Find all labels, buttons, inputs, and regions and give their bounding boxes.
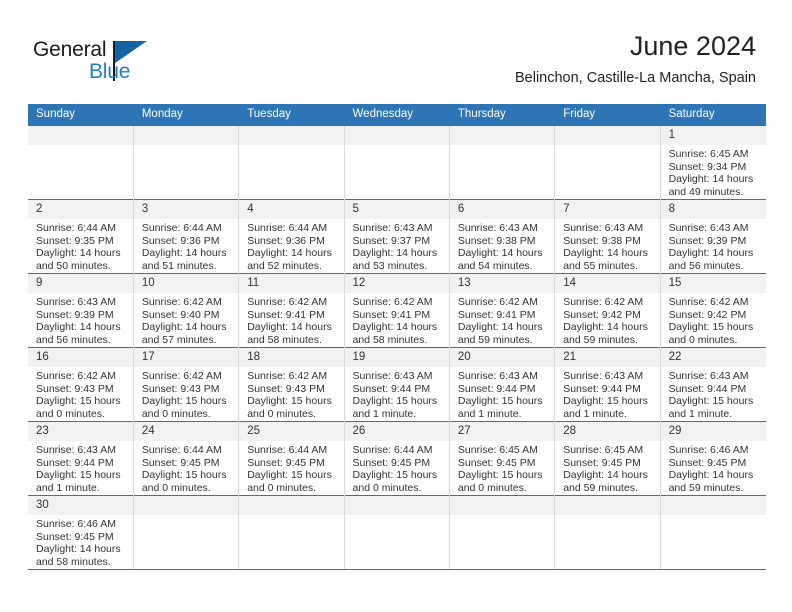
- sunset-text: Sunset: 9:44 PM: [36, 457, 129, 470]
- calendar-day-cell[interactable]: 30Sunrise: 6:46 AMSunset: 9:45 PMDayligh…: [28, 496, 133, 570]
- day-number: 21: [555, 348, 659, 367]
- calendar-day-cell[interactable]: 27Sunrise: 6:45 AMSunset: 9:45 PMDayligh…: [449, 422, 554, 496]
- daylight-text-line2: and 59 minutes.: [563, 482, 655, 495]
- sunset-text: Sunset: 9:43 PM: [247, 383, 339, 396]
- daylight-text-line2: and 1 minute.: [353, 408, 445, 421]
- sunset-text: Sunset: 9:41 PM: [458, 309, 550, 322]
- sunset-text: Sunset: 9:36 PM: [142, 235, 234, 248]
- day-number: 3: [134, 200, 238, 219]
- daylight-text-line1: Daylight: 14 hours: [142, 321, 234, 334]
- day-number: [661, 496, 766, 515]
- day-number: 12: [345, 274, 449, 293]
- calendar-day-cell[interactable]: 1Sunrise: 6:45 AMSunset: 9:34 PMDaylight…: [660, 126, 765, 200]
- day-details: Sunrise: 6:44 AMSunset: 9:45 PMDaylight:…: [345, 441, 449, 494]
- sunset-text: Sunset: 9:45 PM: [247, 457, 339, 470]
- weekday-header-row: Sunday Monday Tuesday Wednesday Thursday…: [28, 104, 766, 126]
- sunset-text: Sunset: 9:37 PM: [353, 235, 445, 248]
- sunset-text: Sunset: 9:38 PM: [563, 235, 655, 248]
- daylight-text-line1: Daylight: 15 hours: [36, 469, 129, 482]
- day-number: 13: [450, 274, 554, 293]
- daylight-text-line1: Daylight: 15 hours: [247, 469, 339, 482]
- sunrise-text: Sunrise: 6:44 AM: [142, 444, 234, 457]
- calendar-day-cell-empty: [239, 126, 344, 200]
- brand-logo[interactable]: General Blue: [33, 38, 183, 90]
- sunset-text: Sunset: 9:44 PM: [353, 383, 445, 396]
- sunset-text: Sunset: 9:45 PM: [669, 457, 762, 470]
- calendar-day-cell-empty: [28, 126, 133, 200]
- day-number: 8: [661, 200, 766, 219]
- sunrise-text: Sunrise: 6:43 AM: [458, 222, 550, 235]
- daylight-text-line1: Daylight: 14 hours: [36, 247, 129, 260]
- sunrise-text: Sunrise: 6:44 AM: [247, 444, 339, 457]
- calendar-day-cell[interactable]: 15Sunrise: 6:42 AMSunset: 9:42 PMDayligh…: [660, 274, 765, 348]
- daylight-text-line1: Daylight: 14 hours: [458, 247, 550, 260]
- calendar-day-cell[interactable]: 29Sunrise: 6:46 AMSunset: 9:45 PMDayligh…: [660, 422, 765, 496]
- sunrise-text: Sunrise: 6:44 AM: [36, 222, 129, 235]
- daylight-text-line2: and 59 minutes.: [458, 334, 550, 347]
- calendar-day-cell[interactable]: 14Sunrise: 6:42 AMSunset: 9:42 PMDayligh…: [555, 274, 660, 348]
- sunrise-text: Sunrise: 6:45 AM: [669, 148, 762, 161]
- daylight-text-line2: and 51 minutes.: [142, 260, 234, 273]
- daylight-text-line1: Daylight: 14 hours: [247, 247, 339, 260]
- day-details: Sunrise: 6:44 AMSunset: 9:36 PMDaylight:…: [239, 219, 343, 272]
- day-details: Sunrise: 6:43 AMSunset: 9:38 PMDaylight:…: [450, 219, 554, 272]
- daylight-text-line2: and 0 minutes.: [669, 334, 762, 347]
- day-details: Sunrise: 6:42 AMSunset: 9:41 PMDaylight:…: [450, 293, 554, 346]
- day-details: Sunrise: 6:44 AMSunset: 9:35 PMDaylight:…: [28, 219, 133, 272]
- calendar-day-cell[interactable]: 17Sunrise: 6:42 AMSunset: 9:43 PMDayligh…: [133, 348, 238, 422]
- day-details: Sunrise: 6:43 AMSunset: 9:44 PMDaylight:…: [450, 367, 554, 420]
- sunrise-text: Sunrise: 6:42 AM: [353, 296, 445, 309]
- daylight-text-line1: Daylight: 14 hours: [669, 173, 762, 186]
- calendar-day-cell[interactable]: 4Sunrise: 6:44 AMSunset: 9:36 PMDaylight…: [239, 200, 344, 274]
- calendar-day-cell[interactable]: 24Sunrise: 6:44 AMSunset: 9:45 PMDayligh…: [133, 422, 238, 496]
- sunrise-text: Sunrise: 6:42 AM: [458, 296, 550, 309]
- day-number: 19: [345, 348, 449, 367]
- day-number: 18: [239, 348, 343, 367]
- calendar-day-cell[interactable]: 16Sunrise: 6:42 AMSunset: 9:43 PMDayligh…: [28, 348, 133, 422]
- sunset-text: Sunset: 9:44 PM: [563, 383, 655, 396]
- daylight-text-line2: and 52 minutes.: [247, 260, 339, 273]
- sunrise-text: Sunrise: 6:42 AM: [142, 370, 234, 383]
- daylight-text-line1: Daylight: 14 hours: [669, 247, 762, 260]
- day-number: 11: [239, 274, 343, 293]
- sunset-text: Sunset: 9:35 PM: [36, 235, 129, 248]
- calendar-day-cell[interactable]: 2Sunrise: 6:44 AMSunset: 9:35 PMDaylight…: [28, 200, 133, 274]
- daylight-text-line2: and 55 minutes.: [563, 260, 655, 273]
- daylight-text-line2: and 59 minutes.: [563, 334, 655, 347]
- sunrise-text: Sunrise: 6:43 AM: [458, 370, 550, 383]
- daylight-text-line1: Daylight: 14 hours: [458, 321, 550, 334]
- daylight-text-line1: Daylight: 14 hours: [247, 321, 339, 334]
- day-details: Sunrise: 6:43 AMSunset: 9:44 PMDaylight:…: [28, 441, 133, 494]
- day-number: [239, 126, 343, 145]
- calendar-day-cell[interactable]: 25Sunrise: 6:44 AMSunset: 9:45 PMDayligh…: [239, 422, 344, 496]
- day-number: 1: [661, 126, 766, 145]
- weekday-header-tuesday: Tuesday: [239, 104, 344, 126]
- calendar-day-cell[interactable]: 22Sunrise: 6:43 AMSunset: 9:44 PMDayligh…: [660, 348, 765, 422]
- calendar-week-row: 16Sunrise: 6:42 AMSunset: 9:43 PMDayligh…: [28, 348, 766, 422]
- sunset-text: Sunset: 9:45 PM: [142, 457, 234, 470]
- calendar-day-cell-empty: [449, 496, 554, 570]
- daylight-text-line1: Daylight: 15 hours: [458, 395, 550, 408]
- calendar-day-cell-empty: [239, 496, 344, 570]
- sunset-text: Sunset: 9:38 PM: [458, 235, 550, 248]
- daylight-text-line1: Daylight: 15 hours: [458, 469, 550, 482]
- day-number: 10: [134, 274, 238, 293]
- daylight-text-line1: Daylight: 14 hours: [142, 247, 234, 260]
- day-number: 25: [239, 422, 343, 441]
- sunset-text: Sunset: 9:44 PM: [458, 383, 550, 396]
- calendar-day-cell[interactable]: 21Sunrise: 6:43 AMSunset: 9:44 PMDayligh…: [555, 348, 660, 422]
- daylight-text-line2: and 0 minutes.: [36, 408, 129, 421]
- day-number: 14: [555, 274, 659, 293]
- daylight-text-line2: and 1 minute.: [563, 408, 655, 421]
- calendar-day-cell[interactable]: 9Sunrise: 6:43 AMSunset: 9:39 PMDaylight…: [28, 274, 133, 348]
- daylight-text-line2: and 58 minutes.: [353, 334, 445, 347]
- day-number: 20: [450, 348, 554, 367]
- day-number: 9: [28, 274, 133, 293]
- sunrise-text: Sunrise: 6:42 AM: [563, 296, 655, 309]
- sunset-text: Sunset: 9:34 PM: [669, 161, 762, 174]
- sunset-text: Sunset: 9:45 PM: [353, 457, 445, 470]
- sunrise-text: Sunrise: 6:46 AM: [669, 444, 762, 457]
- day-details: Sunrise: 6:42 AMSunset: 9:40 PMDaylight:…: [134, 293, 238, 346]
- calendar-day-cell-empty: [344, 496, 449, 570]
- sunrise-text: Sunrise: 6:43 AM: [563, 222, 655, 235]
- sunrise-text: Sunrise: 6:42 AM: [669, 296, 762, 309]
- weekday-header-sunday: Sunday: [28, 104, 133, 126]
- day-number: 27: [450, 422, 554, 441]
- daylight-text-line1: Daylight: 15 hours: [669, 395, 762, 408]
- calendar-day-cell-empty: [555, 496, 660, 570]
- sunset-text: Sunset: 9:36 PM: [247, 235, 339, 248]
- daylight-text-line1: Daylight: 15 hours: [563, 395, 655, 408]
- sunset-text: Sunset: 9:41 PM: [247, 309, 339, 322]
- day-details: Sunrise: 6:43 AMSunset: 9:44 PMDaylight:…: [661, 367, 766, 420]
- sunrise-text: Sunrise: 6:44 AM: [142, 222, 234, 235]
- day-details: Sunrise: 6:45 AMSunset: 9:45 PMDaylight:…: [555, 441, 659, 494]
- brand-name-blue: Blue: [89, 60, 130, 84]
- day-number: 23: [28, 422, 133, 441]
- day-number: 28: [555, 422, 659, 441]
- sunset-text: Sunset: 9:45 PM: [563, 457, 655, 470]
- calendar-day-cell[interactable]: 20Sunrise: 6:43 AMSunset: 9:44 PMDayligh…: [449, 348, 554, 422]
- calendar-week-row: 30Sunrise: 6:46 AMSunset: 9:45 PMDayligh…: [28, 496, 766, 570]
- calendar-day-cell-empty: [555, 126, 660, 200]
- sunrise-text: Sunrise: 6:42 AM: [247, 370, 339, 383]
- calendar-day-cell-empty: [133, 496, 238, 570]
- day-details: Sunrise: 6:43 AMSunset: 9:44 PMDaylight:…: [345, 367, 449, 420]
- calendar-day-cell[interactable]: 10Sunrise: 6:42 AMSunset: 9:40 PMDayligh…: [133, 274, 238, 348]
- sunset-text: Sunset: 9:45 PM: [458, 457, 550, 470]
- daylight-text-line1: Daylight: 14 hours: [563, 321, 655, 334]
- sunrise-text: Sunrise: 6:43 AM: [563, 370, 655, 383]
- day-details: Sunrise: 6:46 AMSunset: 9:45 PMDaylight:…: [28, 515, 133, 568]
- day-details: Sunrise: 6:42 AMSunset: 9:41 PMDaylight:…: [239, 293, 343, 346]
- day-number: 16: [28, 348, 133, 367]
- calendar-week-row: 2Sunrise: 6:44 AMSunset: 9:35 PMDaylight…: [28, 200, 766, 274]
- calendar-day-cell-empty: [660, 496, 765, 570]
- day-number: [134, 496, 238, 515]
- daylight-text-line1: Daylight: 14 hours: [563, 247, 655, 260]
- day-number: 5: [345, 200, 449, 219]
- brand-name-general: General: [33, 38, 106, 62]
- day-number: 29: [661, 422, 766, 441]
- sunrise-text: Sunrise: 6:44 AM: [353, 444, 445, 457]
- day-number: [134, 126, 238, 145]
- weekday-header-wednesday: Wednesday: [344, 104, 449, 126]
- sunrise-text: Sunrise: 6:43 AM: [36, 444, 129, 457]
- day-number: [555, 496, 659, 515]
- day-details: Sunrise: 6:45 AMSunset: 9:34 PMDaylight:…: [661, 145, 766, 198]
- day-number: 7: [555, 200, 659, 219]
- day-number: 4: [239, 200, 343, 219]
- daylight-text-line1: Daylight: 14 hours: [36, 321, 129, 334]
- daylight-text-line2: and 1 minute.: [458, 408, 550, 421]
- daylight-text-line2: and 54 minutes.: [458, 260, 550, 273]
- daylight-text-line1: Daylight: 15 hours: [353, 469, 445, 482]
- day-details: Sunrise: 6:44 AMSunset: 9:45 PMDaylight:…: [134, 441, 238, 494]
- sunset-text: Sunset: 9:40 PM: [142, 309, 234, 322]
- daylight-text-line2: and 50 minutes.: [36, 260, 129, 273]
- calendar-day-cell[interactable]: 5Sunrise: 6:43 AMSunset: 9:37 PMDaylight…: [344, 200, 449, 274]
- sunrise-text: Sunrise: 6:44 AM: [247, 222, 339, 235]
- calendar-day-cell[interactable]: 7Sunrise: 6:43 AMSunset: 9:38 PMDaylight…: [555, 200, 660, 274]
- daylight-text-line1: Daylight: 14 hours: [36, 543, 129, 556]
- calendar-body: 1Sunrise: 6:45 AMSunset: 9:34 PMDaylight…: [28, 126, 766, 570]
- sunrise-text: Sunrise: 6:43 AM: [669, 222, 762, 235]
- day-details: Sunrise: 6:43 AMSunset: 9:39 PMDaylight:…: [661, 219, 766, 272]
- day-details: Sunrise: 6:42 AMSunset: 9:43 PMDaylight:…: [28, 367, 133, 420]
- day-details: Sunrise: 6:44 AMSunset: 9:36 PMDaylight:…: [134, 219, 238, 272]
- calendar-week-row: 23Sunrise: 6:43 AMSunset: 9:44 PMDayligh…: [28, 422, 766, 496]
- location-subtitle: Belinchon, Castille-La Mancha, Spain: [515, 68, 756, 88]
- calendar-week-row: 9Sunrise: 6:43 AMSunset: 9:39 PMDaylight…: [28, 274, 766, 348]
- day-details: Sunrise: 6:42 AMSunset: 9:41 PMDaylight:…: [345, 293, 449, 346]
- sunset-text: Sunset: 9:44 PM: [669, 383, 762, 396]
- calendar-day-cell-empty: [344, 126, 449, 200]
- sunrise-text: Sunrise: 6:43 AM: [36, 296, 129, 309]
- day-number: [555, 126, 659, 145]
- daylight-text-line2: and 0 minutes.: [458, 482, 550, 495]
- sunrise-text: Sunrise: 6:45 AM: [563, 444, 655, 457]
- sunset-text: Sunset: 9:45 PM: [36, 531, 129, 544]
- calendar-day-cell[interactable]: 6Sunrise: 6:43 AMSunset: 9:38 PMDaylight…: [449, 200, 554, 274]
- day-number: 26: [345, 422, 449, 441]
- daylight-text-line1: Daylight: 15 hours: [36, 395, 129, 408]
- day-number: 17: [134, 348, 238, 367]
- daylight-text-line2: and 0 minutes.: [247, 408, 339, 421]
- day-details: Sunrise: 6:43 AMSunset: 9:37 PMDaylight:…: [345, 219, 449, 272]
- daylight-text-line2: and 0 minutes.: [353, 482, 445, 495]
- day-number: 30: [28, 496, 133, 515]
- daylight-text-line2: and 56 minutes.: [669, 260, 762, 273]
- day-details: Sunrise: 6:42 AMSunset: 9:43 PMDaylight:…: [134, 367, 238, 420]
- day-details: Sunrise: 6:45 AMSunset: 9:45 PMDaylight:…: [450, 441, 554, 494]
- daylight-text-line2: and 58 minutes.: [36, 556, 129, 569]
- calendar-day-cell[interactable]: 3Sunrise: 6:44 AMSunset: 9:36 PMDaylight…: [133, 200, 238, 274]
- weekday-header-thursday: Thursday: [449, 104, 554, 126]
- day-number: 24: [134, 422, 238, 441]
- day-number: [450, 496, 554, 515]
- calendar-week-row: 1Sunrise: 6:45 AMSunset: 9:34 PMDaylight…: [28, 126, 766, 200]
- day-number: 15: [661, 274, 766, 293]
- sunrise-text: Sunrise: 6:42 AM: [142, 296, 234, 309]
- day-details: Sunrise: 6:44 AMSunset: 9:45 PMDaylight:…: [239, 441, 343, 494]
- calendar-day-cell[interactable]: 12Sunrise: 6:42 AMSunset: 9:41 PMDayligh…: [344, 274, 449, 348]
- sunrise-text: Sunrise: 6:42 AM: [36, 370, 129, 383]
- calendar-day-cell[interactable]: 8Sunrise: 6:43 AMSunset: 9:39 PMDaylight…: [660, 200, 765, 274]
- daylight-text-line2: and 56 minutes.: [36, 334, 129, 347]
- sunrise-text: Sunrise: 6:43 AM: [669, 370, 762, 383]
- sunset-text: Sunset: 9:39 PM: [36, 309, 129, 322]
- daylight-text-line1: Daylight: 15 hours: [353, 395, 445, 408]
- sunset-text: Sunset: 9:42 PM: [669, 309, 762, 322]
- day-number: [345, 496, 449, 515]
- day-number: [345, 126, 449, 145]
- sunrise-sunset-calendar: Sunday Monday Tuesday Wednesday Thursday…: [28, 104, 766, 570]
- sunset-text: Sunset: 9:41 PM: [353, 309, 445, 322]
- daylight-text-line1: Daylight: 15 hours: [247, 395, 339, 408]
- daylight-text-line1: Daylight: 15 hours: [142, 469, 234, 482]
- calendar-day-cell[interactable]: 23Sunrise: 6:43 AMSunset: 9:44 PMDayligh…: [28, 422, 133, 496]
- weekday-header-saturday: Saturday: [660, 104, 765, 126]
- daylight-text-line2: and 58 minutes.: [247, 334, 339, 347]
- day-number: [28, 126, 133, 145]
- sunrise-text: Sunrise: 6:43 AM: [353, 370, 445, 383]
- sunrise-text: Sunrise: 6:45 AM: [458, 444, 550, 457]
- day-details: Sunrise: 6:46 AMSunset: 9:45 PMDaylight:…: [661, 441, 766, 494]
- day-number: 2: [28, 200, 133, 219]
- sunset-text: Sunset: 9:42 PM: [563, 309, 655, 322]
- calendar-day-cell[interactable]: 19Sunrise: 6:43 AMSunset: 9:44 PMDayligh…: [344, 348, 449, 422]
- daylight-text-line1: Daylight: 14 hours: [563, 469, 655, 482]
- daylight-text-line2: and 0 minutes.: [142, 408, 234, 421]
- daylight-text-line2: and 1 minute.: [36, 482, 129, 495]
- daylight-text-line1: Daylight: 14 hours: [353, 321, 445, 334]
- daylight-text-line1: Daylight: 15 hours: [142, 395, 234, 408]
- weekday-header-friday: Friday: [555, 104, 660, 126]
- day-details: Sunrise: 6:42 AMSunset: 9:43 PMDaylight:…: [239, 367, 343, 420]
- sunrise-text: Sunrise: 6:46 AM: [36, 518, 129, 531]
- calendar-page: General Blue June 2024 Belinchon, Castil…: [0, 0, 792, 612]
- sunrise-text: Sunrise: 6:42 AM: [247, 296, 339, 309]
- sunrise-text: Sunrise: 6:43 AM: [353, 222, 445, 235]
- page-title: June 2024: [515, 30, 756, 62]
- sunset-text: Sunset: 9:43 PM: [142, 383, 234, 396]
- day-number: 6: [450, 200, 554, 219]
- title-block: June 2024 Belinchon, Castille-La Mancha,…: [515, 30, 756, 88]
- daylight-text-line1: Daylight: 14 hours: [353, 247, 445, 260]
- calendar-day-cell[interactable]: 28Sunrise: 6:45 AMSunset: 9:45 PMDayligh…: [555, 422, 660, 496]
- daylight-text-line2: and 57 minutes.: [142, 334, 234, 347]
- calendar-day-cell[interactable]: 26Sunrise: 6:44 AMSunset: 9:45 PMDayligh…: [344, 422, 449, 496]
- page-header: General Blue June 2024 Belinchon, Castil…: [0, 0, 792, 104]
- day-number: [450, 126, 554, 145]
- daylight-text-line2: and 0 minutes.: [142, 482, 234, 495]
- calendar-day-cell-empty: [133, 126, 238, 200]
- daylight-text-line2: and 49 minutes.: [669, 186, 762, 199]
- daylight-text-line2: and 59 minutes.: [669, 482, 762, 495]
- day-details: Sunrise: 6:43 AMSunset: 9:39 PMDaylight:…: [28, 293, 133, 346]
- daylight-text-line2: and 53 minutes.: [353, 260, 445, 273]
- daylight-text-line1: Daylight: 14 hours: [669, 469, 762, 482]
- calendar-day-cell[interactable]: 13Sunrise: 6:42 AMSunset: 9:41 PMDayligh…: [449, 274, 554, 348]
- daylight-text-line1: Daylight: 15 hours: [669, 321, 762, 334]
- calendar-day-cell[interactable]: 11Sunrise: 6:42 AMSunset: 9:41 PMDayligh…: [239, 274, 344, 348]
- calendar-day-cell-empty: [449, 126, 554, 200]
- weekday-header-monday: Monday: [133, 104, 238, 126]
- day-details: Sunrise: 6:42 AMSunset: 9:42 PMDaylight:…: [661, 293, 766, 346]
- daylight-text-line2: and 0 minutes.: [247, 482, 339, 495]
- sunset-text: Sunset: 9:39 PM: [669, 235, 762, 248]
- day-number: 22: [661, 348, 766, 367]
- day-details: Sunrise: 6:43 AMSunset: 9:38 PMDaylight:…: [555, 219, 659, 272]
- sunset-text: Sunset: 9:43 PM: [36, 383, 129, 396]
- day-details: Sunrise: 6:42 AMSunset: 9:42 PMDaylight:…: [555, 293, 659, 346]
- daylight-text-line2: and 1 minute.: [669, 408, 762, 421]
- day-number: [239, 496, 343, 515]
- day-details: Sunrise: 6:43 AMSunset: 9:44 PMDaylight:…: [555, 367, 659, 420]
- calendar-day-cell[interactable]: 18Sunrise: 6:42 AMSunset: 9:43 PMDayligh…: [239, 348, 344, 422]
